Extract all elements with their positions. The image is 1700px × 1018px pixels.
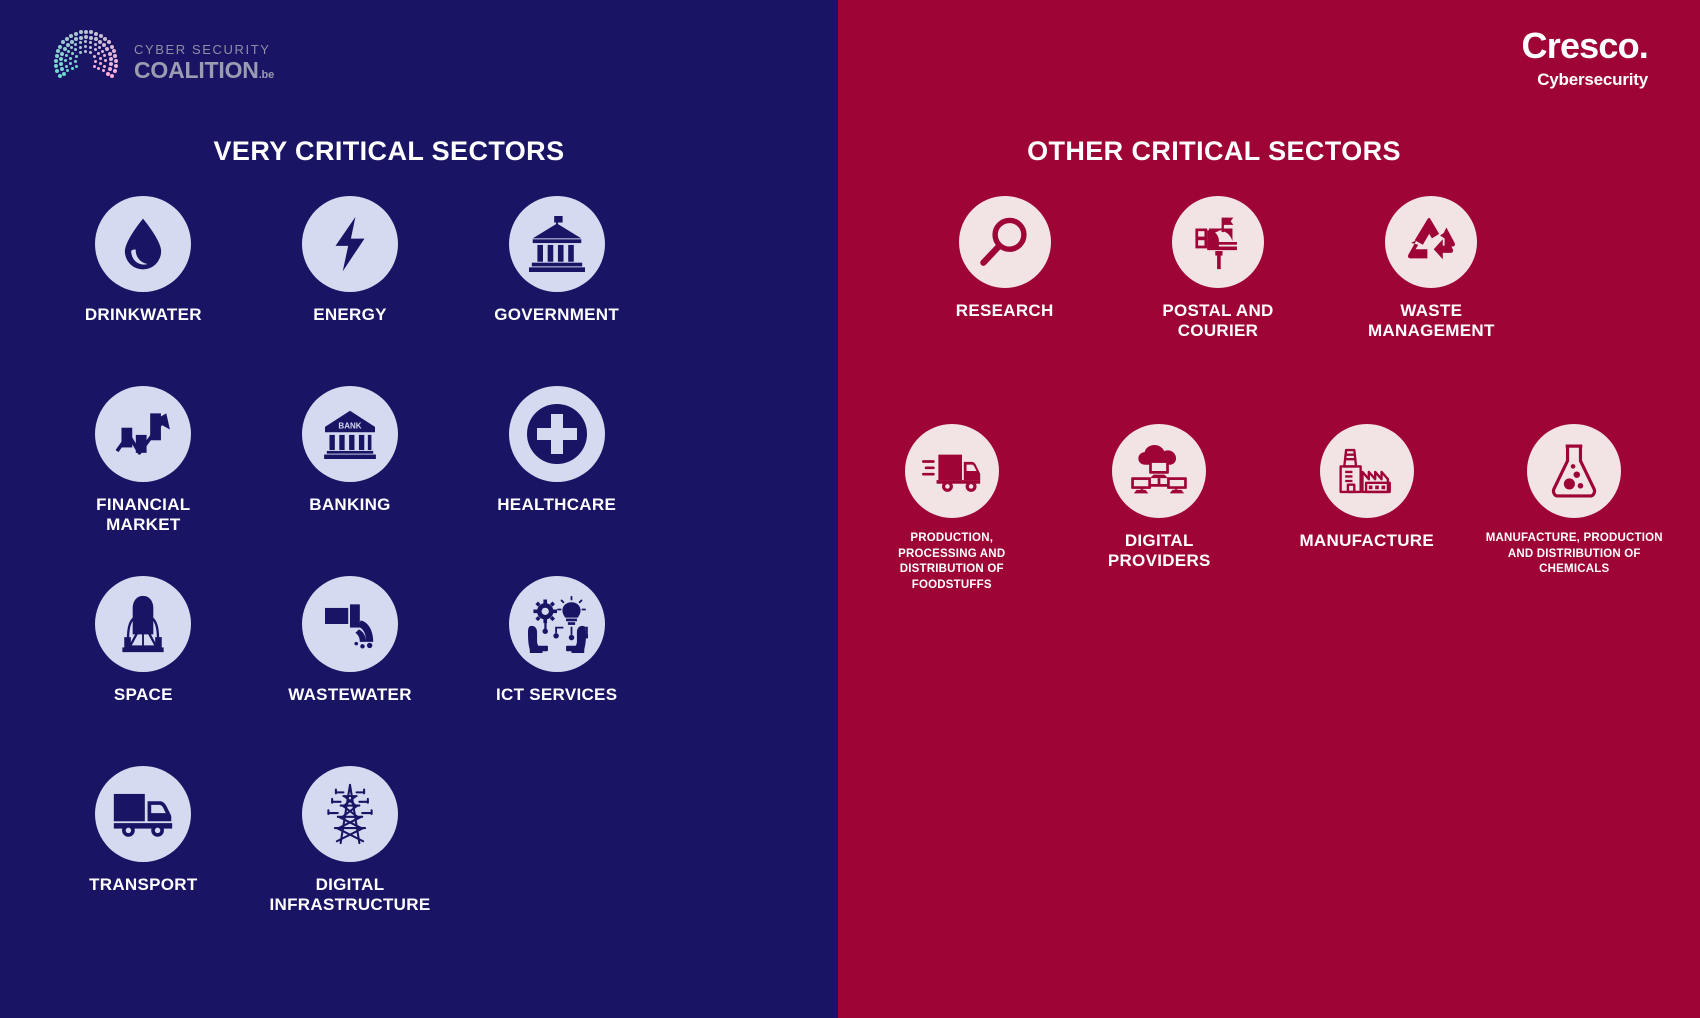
bar-chart-arrow-icon [114,408,172,460]
sector-label: HEALTHCARE [497,495,616,515]
sector-label-line: DISTRIBUTION OF [900,563,1004,575]
sector-label: GOVERNMENT [494,305,619,325]
cresco-tagline: Cybersecurity [1522,71,1648,88]
digital-infrastructure-disc [302,766,398,862]
sector-label: DIGITAL PROVIDERS [1108,531,1211,571]
sector-label-line: AND DISTRIBUTION OF [1508,548,1641,560]
coalition-dots-icon [52,26,120,98]
sector-label: DIGITAL INFRASTRUCTURE [270,875,431,915]
right-sector-grid-row1: RESEARCH [898,196,1538,378]
sector-energy[interactable]: ENERGY [247,196,454,386]
water-drop-icon [114,215,172,273]
left-sector-grid: DRINKWATER ENERGY [40,196,660,956]
ict-services-disc [509,576,605,672]
sector-label-line: DIGITAL [316,875,385,894]
right-panel-title: OTHER CRITICAL SECTORS [783,136,1645,167]
sector-label-line: FINANCIAL [96,495,190,514]
sector-label-line: CHEMICALS [1539,563,1609,575]
chemicals-disc [1527,424,1621,518]
sector-label: SPACE [114,685,173,705]
research-disc [959,196,1051,288]
cresco-brand: Cresco. [1522,28,1648,64]
coalition-logo-line1: CYBER SECURITY [134,43,274,56]
transport-disc [95,766,191,862]
sector-label: ENERGY [313,305,387,325]
sector-ict-services[interactable]: ICT SERVICES [453,576,660,766]
sector-label: DRINKWATER [85,305,202,325]
space-disc [95,576,191,672]
drinkwater-disc [95,196,191,292]
sector-label-line: MARKET [106,515,181,534]
sector-healthcare[interactable]: HEALTHCARE [453,386,660,576]
coalition-logo-line2: COALITION [134,57,259,83]
sector-label-line: MANAGEMENT [1368,321,1495,340]
sector-postal-and-courier[interactable]: POSTAL AND COURIER [1111,196,1324,378]
financial-market-disc [95,386,191,482]
sector-waste-management[interactable]: WASTE MANAGEMENT [1325,196,1538,378]
right-sector-grid-row2: PRODUCTION, PROCESSING AND DISTRIBUTION … [848,424,1678,606]
sector-label-line: COURIER [1178,321,1259,340]
wastewater-pipe-icon [321,599,379,649]
banking-disc: BANK [302,386,398,482]
recycling-icon [1402,215,1460,269]
cyber-security-coalition-logo: CYBER SECURITY COALITION.be [52,26,274,98]
left-panel-title: VERY CRITICAL SECTORS [0,136,808,167]
sector-label-line: FOODSTUFFS [912,579,992,591]
medical-cross-icon [525,402,589,466]
cresco-logo: Cresco. Cybersecurity [1522,28,1648,88]
sector-label-line: POSTAL AND [1162,301,1273,320]
sector-space[interactable]: SPACE [40,576,247,766]
sector-label-line: PROVIDERS [1108,551,1211,570]
sector-label: PRODUCTION, PROCESSING AND DISTRIBUTION … [898,531,1005,593]
bank-icon-text: BANK [338,422,361,431]
sector-label: FINANCIAL MARKET [96,495,190,535]
sector-manufacture[interactable]: MANUFACTURE [1263,424,1471,606]
food-production-disc [905,424,999,518]
sector-label: POSTAL AND COURIER [1162,301,1273,341]
lightning-bolt-icon [323,215,377,273]
power-pylon-icon [323,783,377,845]
government-disc [509,196,605,292]
sector-government[interactable]: GOVERNMENT [453,196,660,386]
mailbox-icon [1190,214,1246,270]
sector-food-production[interactable]: PRODUCTION, PROCESSING AND DISTRIBUTION … [848,424,1056,606]
very-critical-sectors-panel: CYBER SECURITY COALITION.be VERY CRITICA… [0,0,838,1018]
wastewater-disc [302,576,398,672]
sector-digital-providers[interactable]: DIGITAL PROVIDERS [1056,424,1264,606]
sector-financial-market[interactable]: FINANCIAL MARKET [40,386,247,576]
government-building-icon [527,216,587,272]
energy-disc [302,196,398,292]
postal-disc [1172,196,1264,288]
sector-drinkwater[interactable]: DRINKWATER [40,196,247,386]
sector-research[interactable]: RESEARCH [898,196,1111,378]
digital-providers-disc [1112,424,1206,518]
sector-label: MANUFACTURE [1299,531,1434,551]
waste-management-disc [1385,196,1477,288]
delivery-truck-icon [922,449,982,493]
sector-label-line: DIGITAL [1125,531,1194,550]
magnifying-glass-icon [978,215,1032,269]
healthcare-disc [509,386,605,482]
sector-banking[interactable]: BANK BANKING [247,386,454,576]
sector-label: BANKING [309,495,390,515]
cloud-network-icon [1129,445,1189,497]
sector-wastewater[interactable]: WASTEWATER [247,576,454,766]
factory-icon [1337,444,1397,498]
manufacture-disc [1320,424,1414,518]
sector-label-line: INFRASTRUCTURE [270,895,431,914]
sector-digital-infrastructure[interactable]: DIGITAL INFRASTRUCTURE [247,766,454,956]
sector-label-line: WASTE [1400,301,1462,320]
sector-label: WASTE MANAGEMENT [1368,301,1495,341]
chemical-flask-icon [1550,442,1598,500]
hands-gear-bulb-icon [526,595,588,653]
sector-chemicals[interactable]: MANUFACTURE, PRODUCTION AND DISTRIBUTION… [1471,424,1679,606]
sector-label: RESEARCH [956,301,1054,321]
sector-label: TRANSPORT [89,875,197,895]
sector-label-line: MANUFACTURE, PRODUCTION [1486,532,1663,544]
sector-label: WASTEWATER [288,685,412,705]
space-shuttle-icon [116,594,170,654]
other-critical-sectors-panel: Cresco. Cybersecurity OTHER CRITICAL SEC… [838,0,1700,1018]
sector-label: ICT SERVICES [496,685,617,705]
sector-transport[interactable]: TRANSPORT [40,766,247,956]
truck-icon [112,790,174,838]
sector-label: MANUFACTURE, PRODUCTION AND DISTRIBUTION… [1486,531,1663,578]
sector-label-line: PRODUCTION, [910,532,993,544]
coalition-logo-tld: .be [259,69,274,81]
sector-label-line: PROCESSING AND [898,548,1005,560]
bank-building-icon: BANK [321,409,379,459]
infographic-board: CYBER SECURITY COALITION.be VERY CRITICA… [0,0,1700,1018]
